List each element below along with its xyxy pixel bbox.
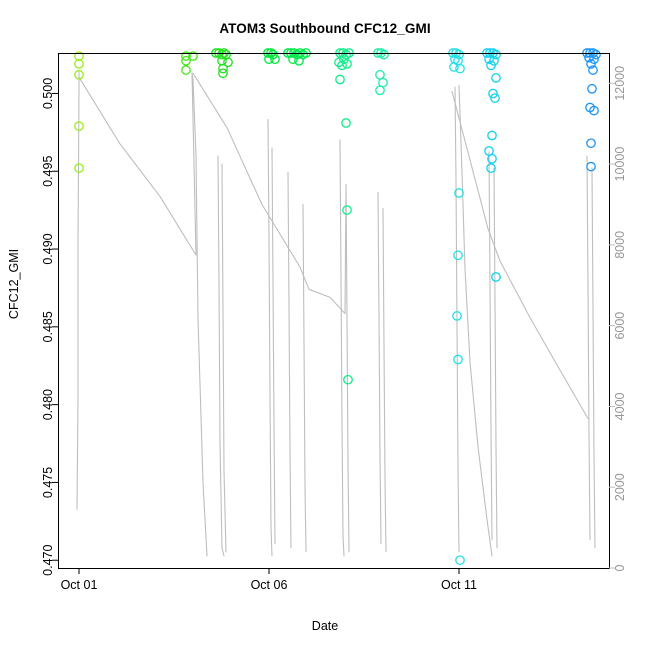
data-point — [380, 50, 388, 58]
x-tick-label: Oct 11 — [441, 578, 477, 592]
data-point — [454, 355, 462, 363]
altitude-profile-line — [452, 91, 500, 261]
altitude-profile-line — [268, 120, 272, 556]
x-tick-label: Oct 01 — [61, 578, 98, 592]
data-point — [343, 206, 351, 214]
y-tick-label: 0.470 — [41, 545, 55, 576]
y2-tick-label: 4000 — [613, 392, 627, 420]
data-point — [492, 273, 500, 281]
data-point — [588, 85, 596, 93]
altitude-profile-layer — [77, 71, 595, 556]
data-point — [492, 74, 500, 82]
x-tick-label: Oct 06 — [251, 578, 288, 592]
data-point-layer — [75, 49, 600, 565]
altitude-profile-line — [193, 73, 300, 267]
y2-tick-label: 6000 — [613, 312, 627, 340]
altitude-profile-line — [383, 209, 386, 552]
y-tick-label: 0.490 — [41, 233, 55, 264]
y-tick-label: 0.475 — [41, 467, 55, 498]
data-point — [218, 57, 226, 65]
y-tick-label: 0.495 — [41, 156, 55, 187]
y2-tick-label: 12000 — [613, 66, 627, 101]
y2-tick-label: 8000 — [613, 231, 627, 259]
altitude-profile-line — [340, 140, 344, 556]
altitude-profile-line — [494, 168, 497, 548]
y2-tick-label: 2000 — [613, 473, 627, 501]
altitude-profile-line — [459, 85, 492, 556]
y-tick-label: 0.485 — [41, 311, 55, 342]
data-point — [336, 75, 344, 83]
altitude-profile-line — [272, 148, 275, 544]
altitude-profile-line — [345, 184, 349, 552]
data-point — [587, 139, 595, 147]
data-point — [182, 66, 190, 74]
data-point — [344, 376, 352, 384]
y2-tick-label: 0 — [613, 564, 627, 571]
altitude-profile-line — [300, 267, 345, 313]
tick-layer: 0.4700.4750.4800.4850.4900.4950.50002000… — [41, 66, 627, 592]
data-point — [454, 57, 462, 65]
altitude-profile-line — [303, 205, 306, 552]
y2-tick-label: 10000 — [613, 147, 627, 182]
data-point — [456, 64, 464, 72]
altitude-profile-line — [77, 71, 79, 509]
altitude-profile-line — [592, 168, 595, 548]
y-tick-label: 0.480 — [41, 389, 55, 420]
altitude-profile-line — [192, 73, 207, 556]
y-tick-label: 0.500 — [41, 78, 55, 109]
altitude-profile-line — [489, 152, 492, 540]
data-point — [376, 86, 384, 94]
altitude-profile-line — [222, 164, 226, 552]
data-point — [454, 251, 462, 259]
data-point — [488, 131, 496, 139]
altitude-profile-line — [500, 261, 588, 419]
altitude-profile-line — [79, 77, 196, 255]
altitude-profile-line — [587, 156, 590, 540]
data-point — [342, 119, 350, 127]
chart-svg: 0.4700.4750.4800.4850.4900.4950.50002000… — [0, 0, 650, 650]
data-point — [450, 63, 458, 71]
plot-canvas: ATOM3 Southbound CFC12_GMI CFC12_GMI Dat… — [0, 0, 650, 650]
data-point — [587, 162, 595, 170]
data-point — [456, 556, 464, 564]
altitude-profile-line — [288, 172, 291, 548]
altitude-profile-line — [378, 192, 381, 543]
